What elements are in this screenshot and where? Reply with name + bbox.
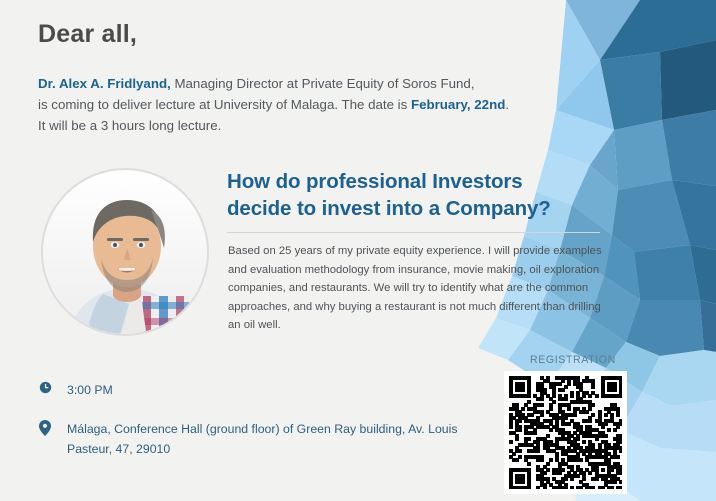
speaker-role: Managing Director at Private Equity of S… [171,76,475,91]
talk-title-line-1: How do professional Investors [227,170,523,193]
intro-paragraph: Dr. Alex A. Fridlyand, Managing Director… [38,73,558,136]
location-pin-icon [36,419,54,436]
intro-line-2b: . [505,97,509,112]
title-divider [227,232,600,233]
detail-time-label: 3:00 PM [54,380,113,400]
speaker-name: Dr. Alex A. Fridlyand, [38,76,171,91]
talk-abstract: Based on 25 years of my private equity e… [228,242,603,335]
avatar-image [43,170,207,334]
qr-canvas [509,376,622,489]
speaker-avatar [41,168,209,336]
intro-line-3: It will be a 3 hours long lecture. [38,118,221,133]
talk-title: How do professional Investors decide to … [227,168,627,222]
intro-line-2a: is coming to deliver lecture at Universi… [38,97,411,112]
poster-canvas: Dear all, Dr. Alex A. Fridlyand, Managin… [0,0,716,501]
lecture-date: February, 22nd [411,97,505,112]
talk-title-line-2: decide to invest into a Company? [227,197,551,220]
registration-qr-code[interactable] [504,371,627,494]
detail-location-label: Málaga, Conference Hall (ground floor) o… [54,419,466,459]
detail-row-location: Málaga, Conference Hall (ground floor) o… [36,419,466,459]
detail-row-time: 3:00 PM [36,380,113,400]
clock-icon [36,380,54,394]
greeting-heading: Dear all, [38,20,137,49]
registration-label: REGISTRATION [530,354,616,366]
